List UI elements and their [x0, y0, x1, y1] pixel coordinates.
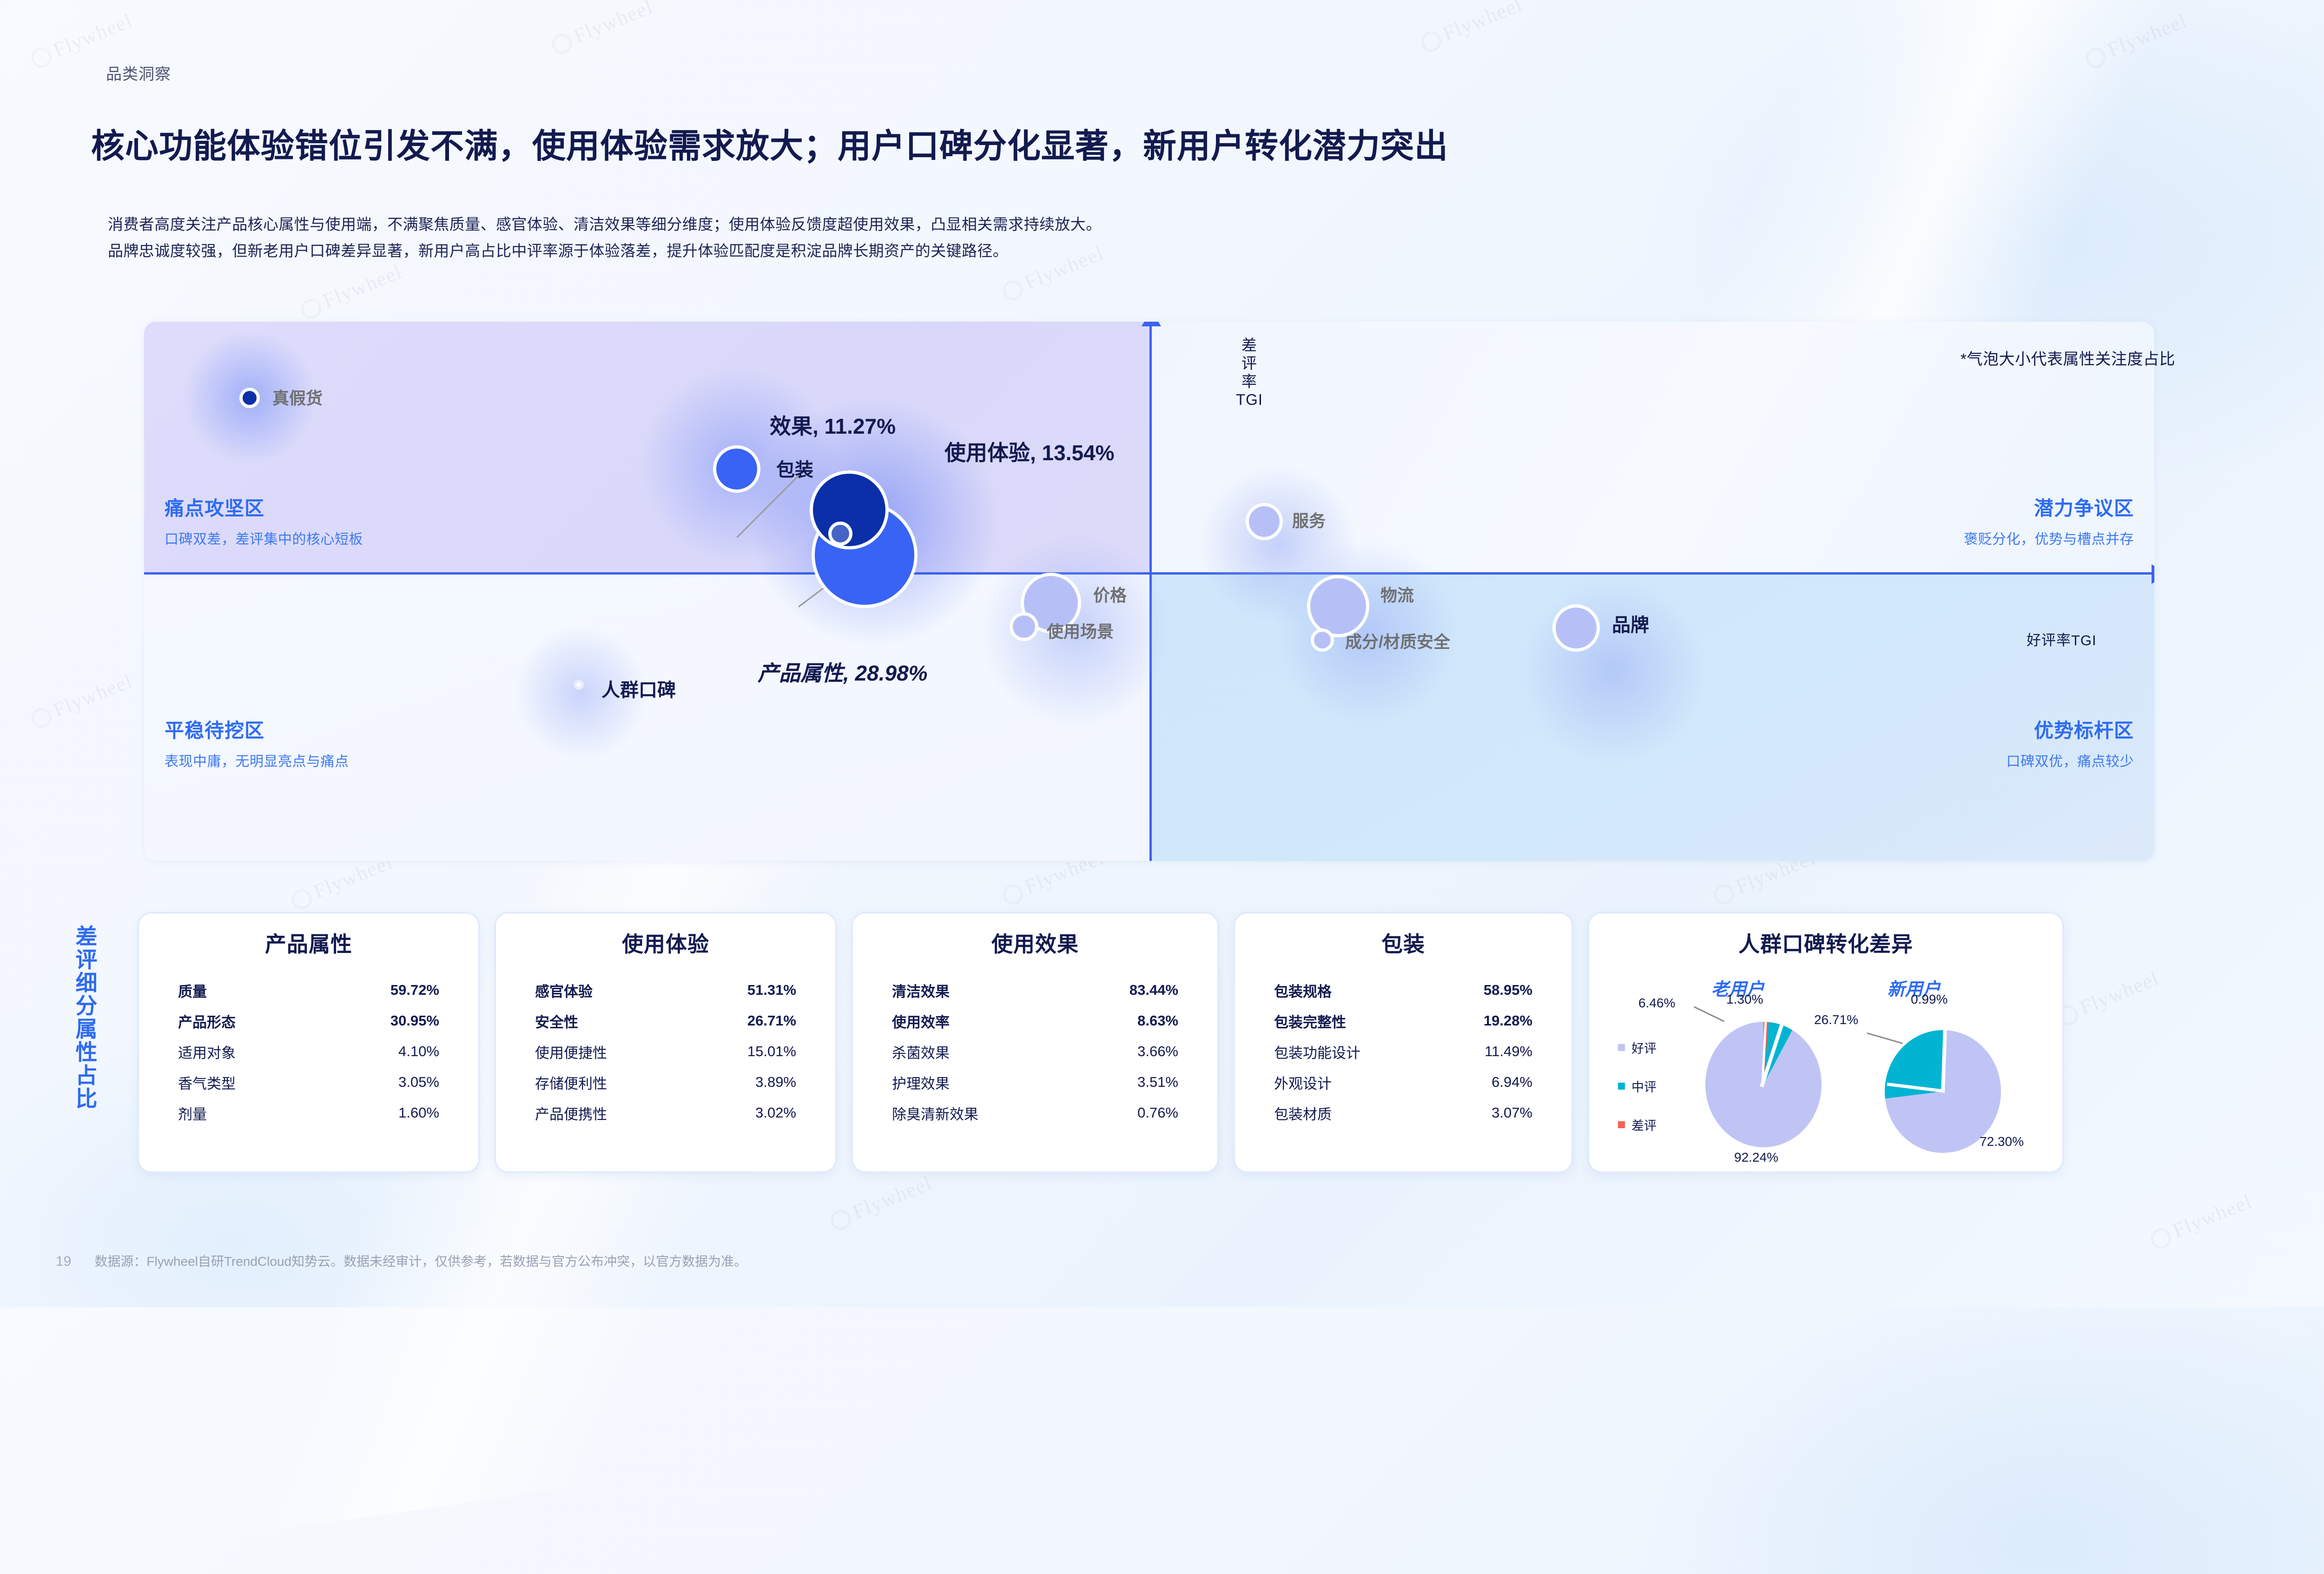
bubble-chengfen-caizhi-anquan[interactable] [1311, 628, 1334, 652]
table-row: 包装材质3.07% [1254, 1098, 1553, 1128]
zone-label-pain-point: 痛点攻坚区 口碑双差，差评集中的核心短板 [165, 493, 363, 548]
row-value: 59.72% [390, 982, 439, 999]
bubble-zhenjiahuo[interactable] [239, 388, 260, 408]
y-axis [1149, 322, 1152, 861]
bubble-label-jiage: 价格 [1093, 582, 1127, 606]
row-value: 26.71% [747, 1012, 796, 1029]
row-value: 19.28% [1484, 1012, 1532, 1029]
table-row: 产品便携性3.02% [515, 1098, 817, 1128]
row-key: 杀菌效果 [892, 1041, 950, 1062]
page-title: 核心功能体验错位引发不满，使用体验需求放大；用户口碑分化显著，新用户转化潜力突出 [91, 119, 1448, 167]
card-title: 人群口碑转化差异 [1608, 927, 2044, 958]
table-row: 香气类型3.05% [158, 1067, 460, 1098]
table-row: 除臭清新效果0.76% [871, 1098, 1199, 1128]
legend-item-good: 好评 [1618, 1038, 1657, 1057]
zone-label-potential: 潜力争议区 褒贬分化，优势与槽点并存 [1964, 493, 2134, 548]
table-row: 存储便利性3.89% [515, 1067, 817, 1098]
bubble-label-xiaoguo: 效果, 11.27% [770, 410, 896, 440]
bubble-label-zhenjiahuo: 真假货 [272, 385, 323, 409]
row-key: 除臭清新效果 [892, 1103, 978, 1124]
row-value: 3.66% [1137, 1043, 1178, 1060]
row-key: 感官体验 [535, 980, 593, 1001]
x-axis [144, 572, 2154, 575]
zone-desc: 口碑双优，痛点较少 [2007, 750, 2134, 770]
row-value: 6.94% [1492, 1074, 1532, 1091]
pie-old-mid-label: 6.46% [1638, 996, 1675, 1011]
footer: 19 数据源：Flywheel自研TrendCloud知势云。数据未经审计，仅供… [56, 1251, 747, 1270]
row-value: 83.44% [1129, 982, 1178, 999]
row-key: 质量 [178, 980, 207, 1001]
pie-new-mid-label: 26.71% [1814, 1012, 1858, 1027]
zone-title: 平稳待挖区 [165, 715, 349, 743]
row-value: 4.10% [398, 1043, 439, 1060]
table-row: 安全性26.71% [515, 1005, 817, 1036]
card-usage-experience: 使用体验 感官体验51.31% 安全性26.71% 使用便捷性15.01% 存储… [495, 912, 837, 1173]
bubble-label-fuwu: 服务 [1292, 508, 1326, 532]
row-value: 15.01% [747, 1043, 796, 1060]
row-key: 包装完整性 [1274, 1011, 1346, 1032]
table-row: 杀菌效果3.66% [871, 1036, 1199, 1067]
card-product-attribute: 产品属性 质量59.72% 产品形态30.95% 适用对象4.10% 香气类型3… [138, 912, 480, 1173]
zone-desc: 表现中庸，无明显亮点与痛点 [165, 750, 349, 770]
legend-label: 差评 [1631, 1116, 1657, 1134]
row-key: 剂量 [178, 1103, 207, 1124]
row-key: 包装规格 [1274, 980, 1332, 1001]
card-title: 包装 [1254, 927, 1553, 958]
y-axis-label: 差评率TGI [1235, 337, 1263, 409]
pie-old-bad-label: 1.30% [1726, 992, 1763, 1007]
card-title: 使用体验 [515, 927, 817, 958]
bubble-label-pinpai: 品牌 [1612, 610, 1649, 637]
card-title: 使用效果 [871, 927, 1199, 958]
watermark: Flywheel [827, 1171, 936, 1233]
pie-old-good-label: 92.24% [1734, 1150, 1778, 1165]
zone-label-steady: 平稳待挖区 表现中庸，无明显亮点与痛点 [165, 715, 349, 770]
eyebrow-label: 品类洞察 [106, 61, 171, 84]
table-row: 产品形态30.95% [158, 1005, 460, 1036]
table-row: 质量59.72% [158, 975, 460, 1005]
zone-desc: 褒贬分化，优势与槽点并存 [1964, 528, 2134, 548]
bubble-label-shiyongtiyan: 使用体验, 13.54% [944, 436, 1115, 467]
bubble-label-renqunkoubei: 人群口碑 [601, 675, 676, 702]
row-key: 包装材质 [1274, 1103, 1332, 1124]
bubble-baozhuang[interactable] [713, 445, 760, 493]
row-key: 存储便利性 [535, 1072, 607, 1093]
table-row: 包装规格58.95% [1254, 975, 1553, 1005]
table-row: 适用对象4.10% [158, 1036, 460, 1067]
side-axis-label: 差评细分属性占比 [70, 925, 104, 1111]
pie-new-good-label: 72.30% [1980, 1134, 2024, 1149]
pie-legend: 好评 中评 差评 [1618, 1038, 1657, 1154]
row-value: 3.07% [1492, 1104, 1532, 1121]
zone-label-advantage: 优势标杆区 口碑双优，痛点较少 [2007, 715, 2134, 770]
zone-title: 优势标杆区 [2007, 715, 2134, 743]
row-value: 51.31% [747, 982, 796, 999]
watermark: Flywheel [548, 0, 657, 57]
row-value: 58.95% [1484, 982, 1532, 999]
table-row: 护理效果3.51% [871, 1067, 1199, 1098]
table-row: 感官体验51.31% [515, 975, 817, 1005]
row-value: 30.95% [390, 1012, 439, 1029]
legend-swatch-good-icon [1618, 1044, 1625, 1051]
row-key: 外观设计 [1274, 1072, 1332, 1093]
table-row: 外观设计6.94% [1254, 1067, 1553, 1098]
watermark: Flywheel [2082, 8, 2191, 71]
zone-title: 痛点攻坚区 [165, 493, 363, 521]
bubble-pinpai[interactable] [1552, 604, 1600, 652]
x-axis-label: 好评率TGI [2027, 628, 2097, 649]
row-key: 适用对象 [178, 1041, 236, 1062]
legend-item-bad: 差评 [1618, 1116, 1657, 1134]
row-value: 11.49% [1485, 1043, 1532, 1060]
bubble-wuliu[interactable] [1307, 575, 1369, 637]
bubble-label-chanpinshuxing: 产品属性, 28.98% [758, 656, 928, 687]
legend-label: 好评 [1631, 1038, 1657, 1057]
subtitle-line-2: 品牌忠诚度较强，但新老用户口碑差异显著，新用户高占比中评率源于体验落差，提升体验… [108, 238, 1102, 265]
watermark: Flywheel [1417, 0, 1526, 55]
legend-swatch-bad-icon [1618, 1121, 1625, 1128]
row-key: 清洁效果 [892, 980, 950, 1001]
pie-area: 好评 中评 差评 6.46% 1.30% 92.24% 26.71% 0.99%… [1608, 1002, 2044, 1156]
watermark: Flywheel [27, 668, 136, 731]
row-key: 产品形态 [178, 1011, 236, 1032]
row-value: 1.60% [398, 1104, 439, 1121]
subtitle-line-1: 消费者高度关注产品核心属性与使用端，不满聚焦质量、感官体验、清洁效果等细分维度；… [108, 212, 1102, 238]
table-row: 使用便捷性15.01% [515, 1036, 817, 1067]
watermark: Flywheel [2054, 966, 2163, 1028]
legend-item-mid: 中评 [1618, 1077, 1657, 1095]
row-key: 包装功能设计 [1274, 1041, 1360, 1062]
bubble-label-wuliu: 物流 [1380, 582, 1414, 606]
row-value: 3.05% [398, 1074, 439, 1091]
zone-title: 潜力争议区 [1964, 493, 2134, 521]
pie-leader-line [1694, 1006, 1724, 1022]
row-value: 0.76% [1137, 1104, 1178, 1121]
row-key: 安全性 [535, 1011, 578, 1032]
metric-cards: 产品属性 质量59.72% 产品形态30.95% 适用对象4.10% 香气类型3… [138, 912, 2064, 1173]
row-value: 3.02% [755, 1104, 796, 1121]
table-row: 使用效率8.63% [871, 1005, 1199, 1036]
table-row: 剂量1.60% [158, 1098, 460, 1128]
bubble-fuwu[interactable] [1246, 503, 1283, 540]
bubble-label-shiyongchangjing: 使用场景 [1047, 618, 1114, 642]
card-crowd-reputation: 人群口碑转化差异 老用户 新用户 好评 中评 差评 6.46% 1.30% 92… [1588, 912, 2064, 1173]
row-value: 3.89% [755, 1074, 796, 1091]
row-key: 使用便捷性 [535, 1041, 607, 1062]
card-packaging: 包装 包装规格58.95% 包装完整性19.28% 包装功能设计11.49% 外… [1234, 912, 1573, 1173]
bubble-label-baozhuang: 包装 [776, 455, 813, 482]
row-value: 8.63% [1137, 1012, 1178, 1029]
table-row: 包装功能设计11.49% [1254, 1036, 1553, 1067]
row-key: 香气类型 [178, 1072, 236, 1093]
bubble-size-note: *气泡大小代表属性关注度占比 [1961, 346, 2175, 369]
legend-label: 中评 [1631, 1077, 1657, 1095]
row-key: 护理效果 [892, 1072, 950, 1093]
bubble-shiyongchangjing[interactable] [1010, 612, 1038, 641]
zone-desc: 口碑双差，差评集中的核心短板 [165, 528, 363, 548]
pie-leader-line [1867, 1032, 1903, 1044]
row-key: 使用效率 [892, 1011, 950, 1032]
row-key: 产品便携性 [535, 1103, 607, 1124]
quadrant-chart: 真假货 包装 效果, 11.27% 使用体验, 13.54% 产品属性, 28.… [144, 322, 2154, 861]
row-value: 3.51% [1137, 1074, 1178, 1091]
bubble-label-chengfen-caizhi-anquan: 成分/材质安全 [1345, 628, 1450, 653]
quadrant-bottom-right [1149, 572, 2155, 861]
card-title: 产品属性 [158, 927, 460, 958]
table-row: 包装完整性19.28% [1254, 1005, 1553, 1036]
page-number: 19 [56, 1254, 71, 1270]
watermark: Flywheel [2147, 1189, 2256, 1251]
page-subtitle: 消费者高度关注产品核心属性与使用端，不满聚焦质量、感官体验、清洁效果等细分维度；… [108, 212, 1102, 265]
bubble-inner-dot [828, 522, 852, 546]
card-usage-effect: 使用效果 清洁效果83.44% 使用效率8.63% 杀菌效果3.66% 护理效果… [852, 912, 1219, 1173]
watermark: Flywheel [297, 259, 406, 322]
bubble-renqunkoubei[interactable] [574, 680, 584, 690]
pie-new-bad-label: 0.99% [1911, 992, 1948, 1007]
data-source-note: 数据源：Flywheel自研TrendCloud知势云。数据未经审计，仅供参考，… [94, 1251, 747, 1270]
table-row: 清洁效果83.44% [871, 975, 1199, 1005]
legend-swatch-mid-icon [1618, 1083, 1625, 1090]
